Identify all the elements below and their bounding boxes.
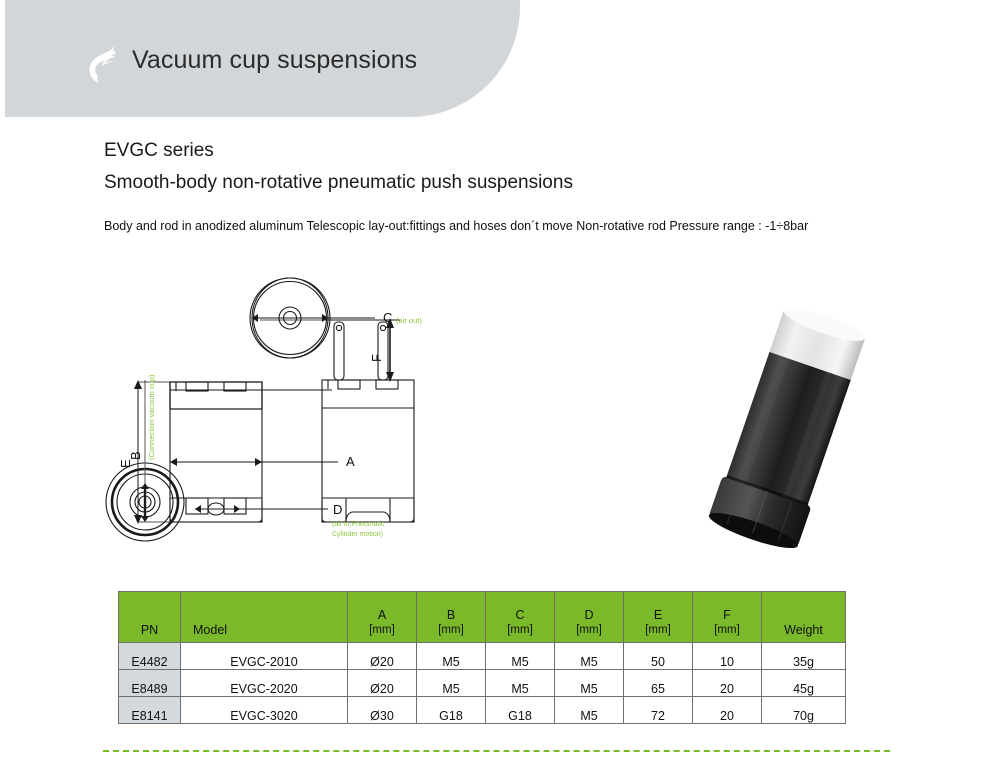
column-header-weight: Weight <box>762 592 846 643</box>
dimension-label-d: D <box>333 502 342 517</box>
annotation-air-in-line2: Cylinder motion) <box>332 531 383 538</box>
cell-pn: E8489 <box>119 670 181 697</box>
cell-b: M5 <box>417 643 486 670</box>
cell-model: EVGC-2010 <box>181 643 348 670</box>
cell-weight: 70g <box>762 697 846 724</box>
column-header-a: A [mm] <box>348 592 417 643</box>
column-header-f: F [mm] <box>693 592 762 643</box>
cell-a: Ø20 <box>348 643 417 670</box>
cell-pn: E4482 <box>119 643 181 670</box>
annotation-air-in-line1: (air in,Pneumatic <box>332 521 385 528</box>
annotation-connection-vacuum-cup: (Connection vacuum cup) <box>147 374 156 460</box>
annotation-air-out: (air out) <box>396 316 422 325</box>
cell-a: Ø20 <box>348 670 417 697</box>
column-header-d: D [mm] <box>555 592 624 643</box>
cell-weight: 45g <box>762 670 846 697</box>
product-photo <box>645 280 930 580</box>
cell-c: G18 <box>486 697 555 724</box>
column-header-e: E [mm] <box>624 592 693 643</box>
product-subtitle: Smooth-body non-rotative pneumatic push … <box>104 172 573 194</box>
cell-f: 20 <box>693 697 762 724</box>
table-header-row: PN Model A [mm] B [mm] C [mm] D [mm] <box>119 592 846 643</box>
cell-b: G18 <box>417 697 486 724</box>
cell-a: Ø30 <box>348 697 417 724</box>
column-header-c: C [mm] <box>486 592 555 643</box>
column-header-b: B [mm] <box>417 592 486 643</box>
cell-pn: E8141 <box>119 697 181 724</box>
feature-list: Body and rod in anodized aluminum Telesc… <box>104 218 808 234</box>
table-row: E4482EVGC-2010Ø20M5M5M5501035g <box>119 643 846 670</box>
cell-model: EVGC-2020 <box>181 670 348 697</box>
cell-b: M5 <box>417 670 486 697</box>
cell-model: EVGC-3020 <box>181 697 348 724</box>
table-row: E8489EVGC-2020Ø20M5M5M5652045g <box>119 670 846 697</box>
series-title: EVGC series <box>104 140 214 162</box>
cell-c: M5 <box>486 643 555 670</box>
table-row: E8141EVGC-3020Ø30G18G18M5722070g <box>119 697 846 724</box>
cell-weight: 35g <box>762 643 846 670</box>
dolphin-logo-icon <box>84 42 124 86</box>
cell-d: M5 <box>555 670 624 697</box>
column-header-pn: PN <box>119 592 181 643</box>
cell-e: 72 <box>624 697 693 724</box>
dimension-label-a: A <box>346 454 355 469</box>
footer-divider <box>103 750 890 752</box>
cell-e: 65 <box>624 670 693 697</box>
cell-f: 10 <box>693 643 762 670</box>
page-title: Vacuum cup suspensions <box>132 46 417 75</box>
technical-drawing: C (air out) D (air in,Pneumatic Cylinder… <box>100 270 660 570</box>
dimension-label-c: C <box>383 310 392 325</box>
dimension-label-b: B <box>128 451 143 460</box>
column-header-model: Model <box>181 592 348 643</box>
cell-d: M5 <box>555 697 624 724</box>
dimension-label-f: F <box>369 354 384 362</box>
specification-table: PN Model A [mm] B [mm] C [mm] D [mm] <box>118 591 846 724</box>
cell-d: M5 <box>555 643 624 670</box>
cell-c: M5 <box>486 670 555 697</box>
cell-f: 20 <box>693 670 762 697</box>
cell-e: 50 <box>624 643 693 670</box>
